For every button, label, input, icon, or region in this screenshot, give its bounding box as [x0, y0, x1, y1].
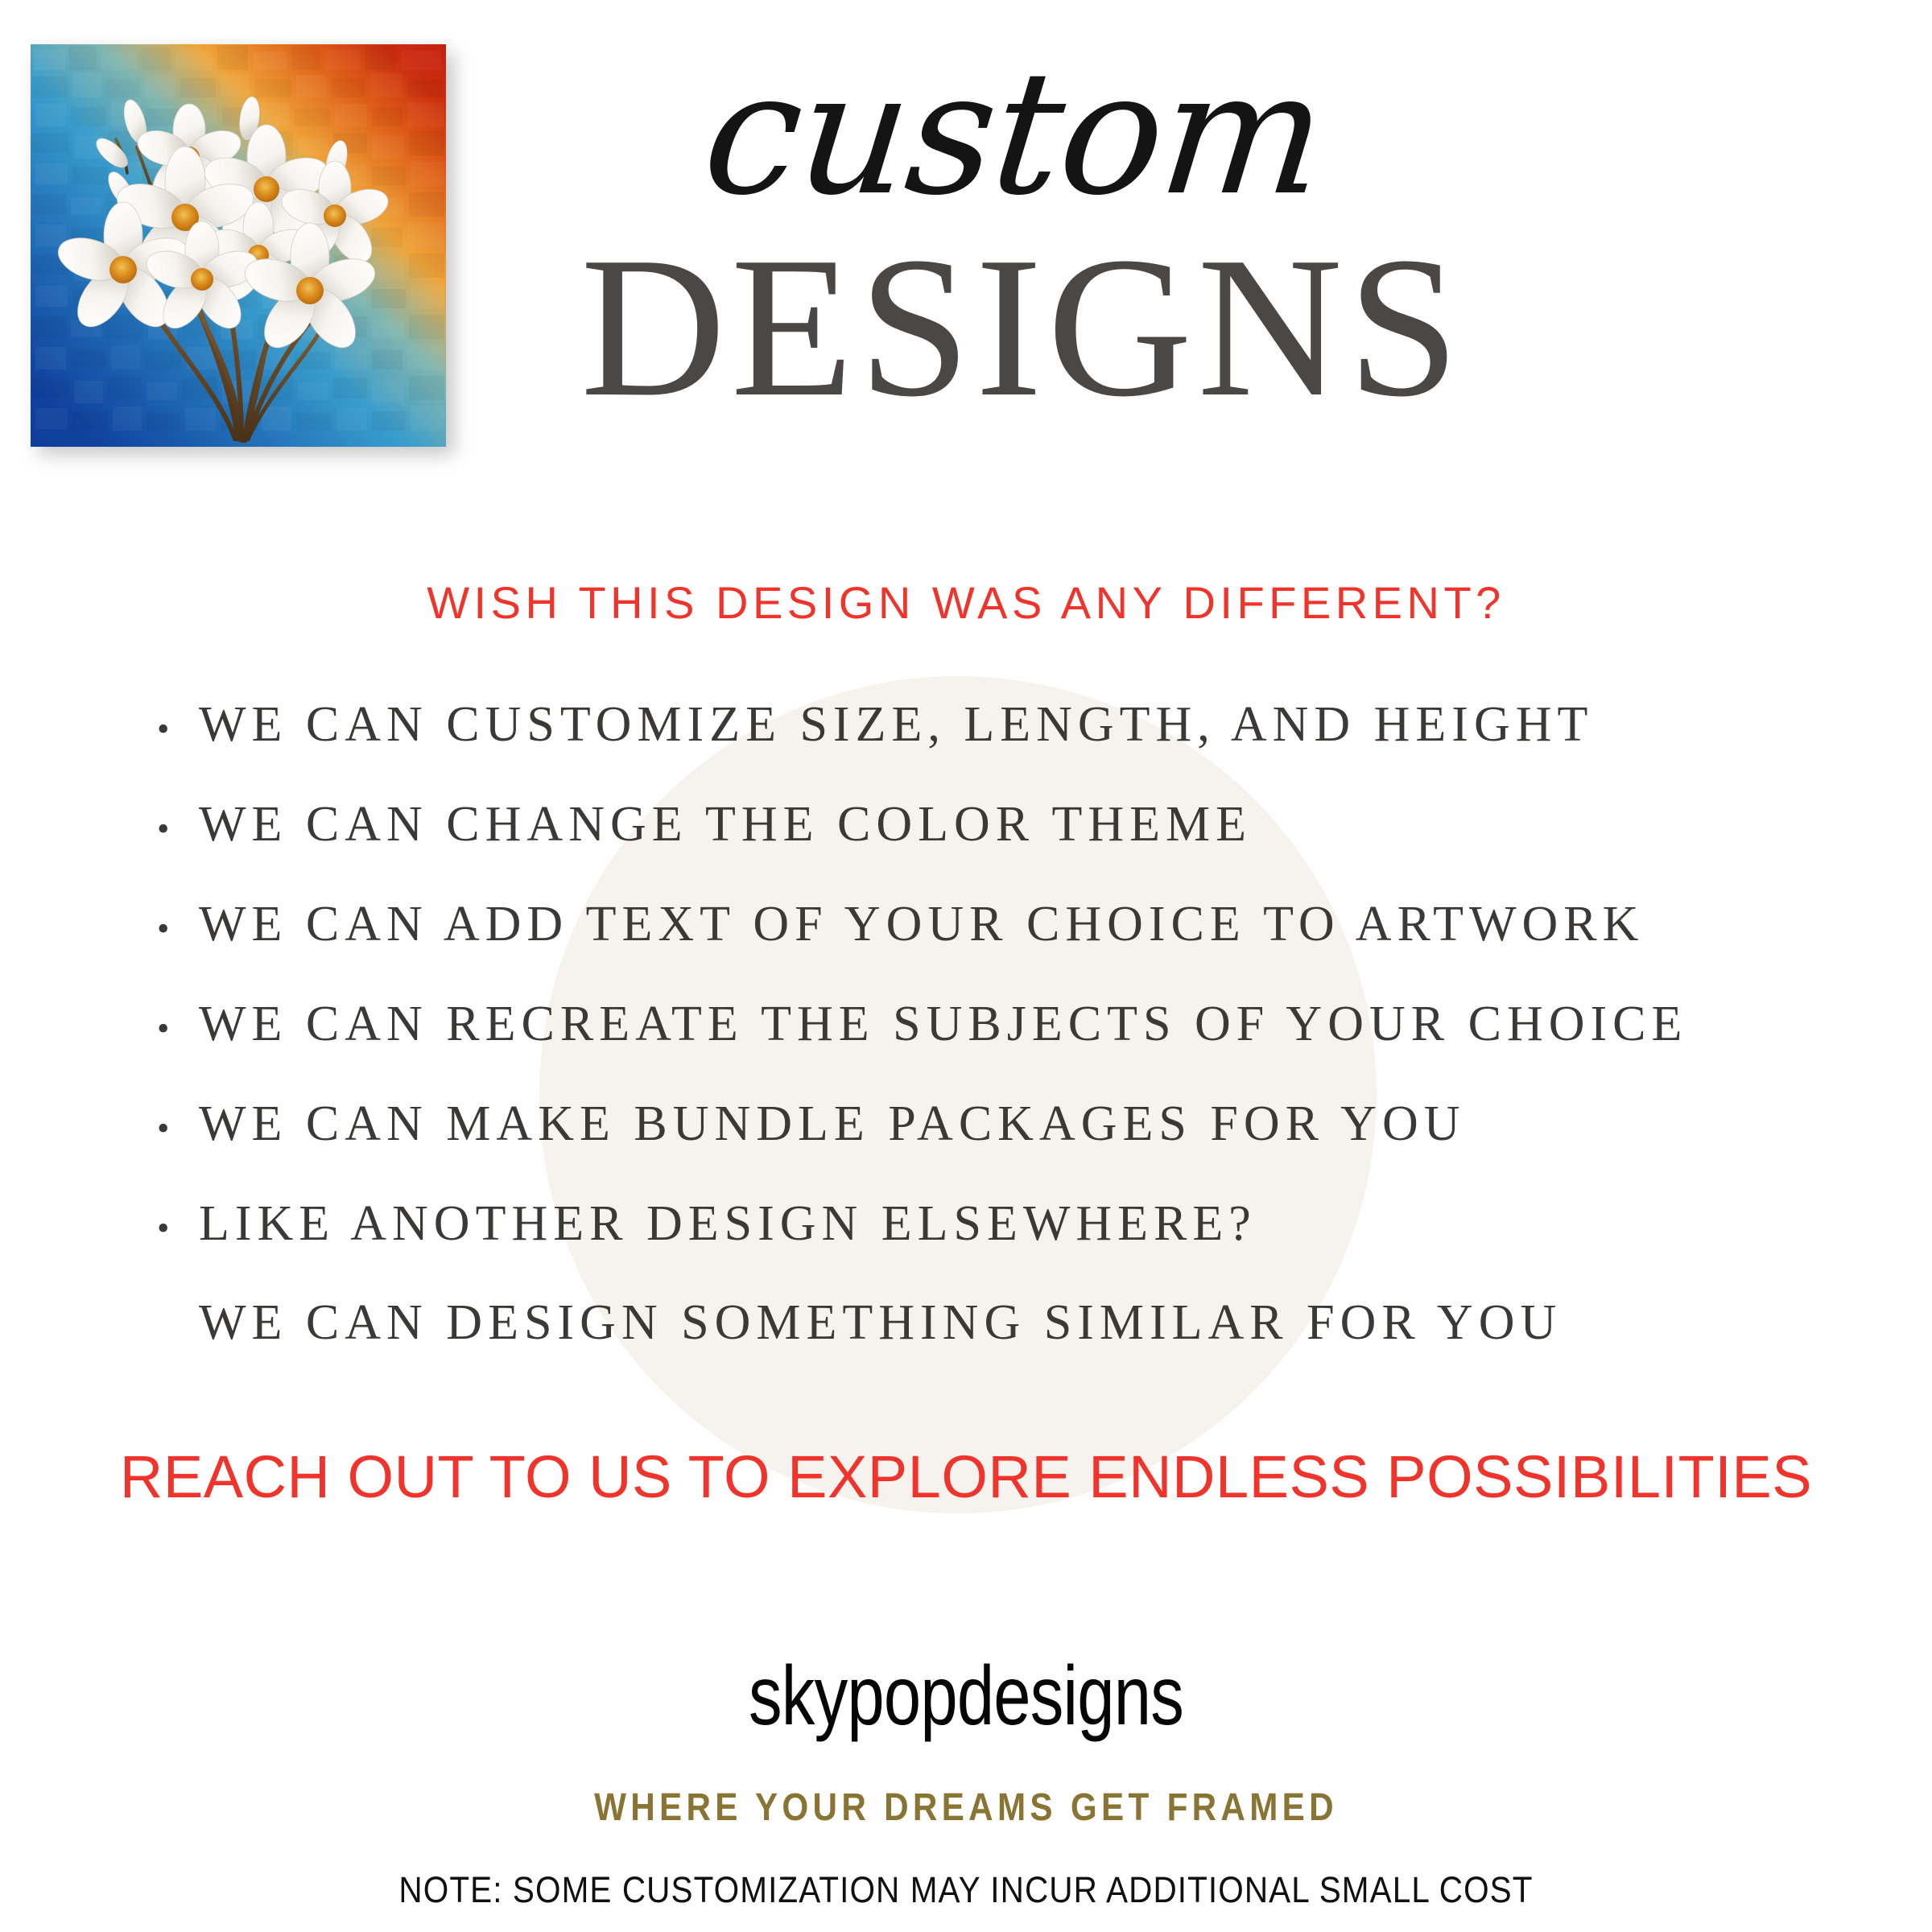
list-item: • WE CAN RECREATE THE SUBJECTS OF YOUR C…	[157, 996, 1880, 1096]
list-item-label: LIKE ANOTHER DESIGN ELSEWHERE?	[199, 1195, 1257, 1253]
feature-list: • WE CAN CUSTOMIZE SIZE, LENGTH, AND HEI…	[157, 696, 1880, 1295]
list-item-continuation: WE CAN DESIGN SOMETHING SIMILAR FOR YOU	[199, 1294, 1562, 1352]
bullet-dot-icon: •	[157, 1111, 199, 1146]
list-item: • WE CAN MAKE BUNDLE PACKAGES FOR YOU	[157, 1096, 1880, 1195]
list-item-label: WE CAN ADD TEXT OF YOUR CHOICE TO ARTWOR…	[199, 896, 1644, 953]
page-title-script: custom	[442, 48, 1587, 219]
header-block: custom DESIGNS	[451, 48, 1578, 428]
brand-name: skypopdesigns	[193, 1649, 1739, 1744]
list-item-label: WE CAN CUSTOMIZE SIZE, LENGTH, AND HEIGH…	[199, 696, 1593, 753]
list-item-label: WE CAN MAKE BUNDLE PACKAGES FOR YOU	[199, 1096, 1466, 1153]
list-item-label: WE CAN RECREATE THE SUBJECTS OF YOUR CHO…	[199, 996, 1687, 1053]
bullet-dot-icon: •	[157, 811, 199, 847]
bullet-dot-icon: •	[157, 712, 199, 747]
list-item-label: WE CAN CHANGE THE COLOR THEME	[199, 796, 1252, 853]
poster-canvas: custom DESIGNS WISH THIS DESIGN WAS ANY …	[0, 0, 1932, 1932]
artwork-painting-image	[31, 44, 446, 447]
bullet-dot-icon: •	[157, 1211, 199, 1246]
list-item: • WE CAN CHANGE THE COLOR THEME	[157, 796, 1880, 896]
headline-question: WISH THIS DESIGN WAS ANY DIFFERENT?	[0, 576, 1932, 629]
bullet-dot-icon: •	[157, 1011, 199, 1046]
call-to-action-text: REACH OUT TO US TO EXPLORE ENDLESS POSSI…	[0, 1443, 1932, 1511]
artwork-thumbnail[interactable]	[31, 44, 446, 447]
footer-note: NOTE: SOME CUSTOMIZATION MAY INCUR ADDIT…	[97, 1869, 1835, 1911]
brand-tagline: WHERE YOUR DREAMS GET FRAMED	[116, 1785, 1816, 1830]
list-item: • LIKE ANOTHER DESIGN ELSEWHERE?	[157, 1195, 1880, 1295]
bullet-dot-icon: •	[157, 911, 199, 947]
list-item: • WE CAN CUSTOMIZE SIZE, LENGTH, AND HEI…	[157, 696, 1880, 796]
page-title-main: DESIGNS	[451, 219, 1578, 428]
list-item: • WE CAN ADD TEXT OF YOUR CHOICE TO ARTW…	[157, 896, 1880, 996]
